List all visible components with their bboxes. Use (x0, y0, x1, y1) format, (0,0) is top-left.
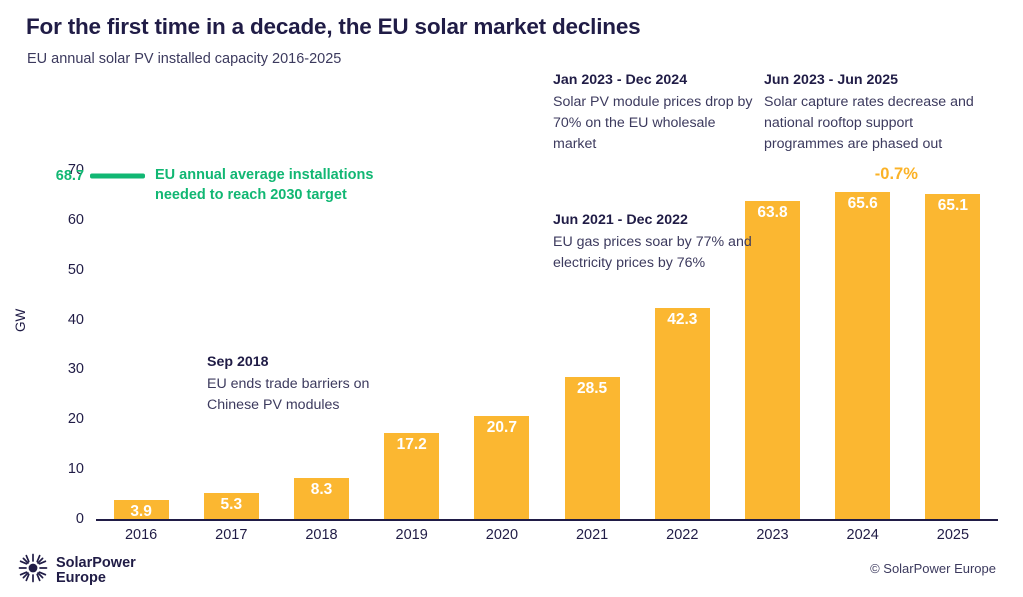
logo-wordmark: SolarPower Europe (56, 556, 136, 586)
bar-2016[interactable]: 3.9 (114, 500, 169, 519)
bar-value-label: 20.7 (474, 419, 529, 437)
x-axis-tick-2022: 2022 (632, 527, 732, 543)
x-axis-tick-2020: 2020 (452, 527, 552, 543)
y-axis-tick-label: 20 (32, 411, 84, 427)
bar-value-label: 65.6 (835, 195, 890, 213)
target-line-legend-swatch (90, 174, 145, 179)
bar-value-label: 5.3 (204, 496, 259, 514)
target-line-value: 68.7 (22, 168, 84, 184)
y-axis-ticks: 010203040506070 (22, 0, 84, 597)
y-axis-tick-label: 10 (32, 461, 84, 477)
bar-2025[interactable]: 65.1 (925, 194, 980, 519)
bar-2023[interactable]: 63.8 (745, 201, 800, 519)
x-axis-tick-2019: 2019 (362, 527, 462, 543)
annotation-body: Solar capture rates decrease and nationa… (764, 92, 989, 155)
x-axis-tick-2021: 2021 (542, 527, 642, 543)
sunburst-icon (18, 553, 48, 588)
bar-value-label: 8.3 (294, 481, 349, 499)
x-axis-tick-2024: 2024 (813, 527, 913, 543)
annotation-jun2021: Jun 2021 - Dec 2022 EU gas prices soar b… (553, 210, 753, 274)
bar-rect (565, 377, 620, 519)
x-axis-tick-2023: 2023 (723, 527, 823, 543)
x-axis-tick-2017: 2017 (181, 527, 281, 543)
bar-2017[interactable]: 5.3 (204, 493, 259, 519)
annotation-jan2023: Jan 2023 - Dec 2024 Solar PV module pric… (553, 70, 753, 155)
bar-2020[interactable]: 20.7 (474, 416, 529, 519)
annotation-body: Solar PV module prices drop by 70% on th… (553, 92, 753, 155)
annotation-heading: Sep 2018 (207, 352, 422, 373)
bar-value-label: 63.8 (745, 204, 800, 222)
x-axis-tick-2018: 2018 (272, 527, 372, 543)
y-axis-label: GW (13, 309, 28, 332)
y-axis-tick-label: 40 (32, 312, 84, 328)
bar-value-label: 28.5 (565, 380, 620, 398)
bar-value-label: 17.2 (384, 436, 439, 454)
bar-2021[interactable]: 28.5 (565, 377, 620, 519)
bar-rect (925, 194, 980, 519)
annotation-heading: Jun 2023 - Jun 2025 (764, 70, 989, 91)
y-axis-tick-label: 60 (32, 212, 84, 228)
change-annotation-label: -0.7% (875, 165, 918, 184)
bar-rect (745, 201, 800, 519)
annotation-sep2018: Sep 2018 EU ends trade barriers on Chine… (207, 352, 422, 416)
bar-2019[interactable]: 17.2 (384, 433, 439, 519)
bar-2022[interactable]: 42.3 (655, 308, 710, 519)
x-axis-line (96, 519, 998, 521)
target-line-legend-label: EU annual average installations needed t… (155, 165, 435, 205)
y-axis-tick-label: 30 (32, 361, 84, 377)
annotation-body: EU gas prices soar by 77% and electricit… (553, 232, 753, 274)
bar-value-label: 3.9 (114, 503, 169, 521)
y-axis-tick-label: 0 (32, 511, 84, 527)
bar-rect (655, 308, 710, 519)
annotation-heading: Jan 2023 - Dec 2024 (553, 70, 753, 91)
bar-value-label: 65.1 (925, 197, 980, 215)
solarpower-europe-logo: SolarPower Europe (18, 553, 136, 588)
bar-rect (835, 192, 890, 519)
annotation-body: EU ends trade barriers on Chinese PV mod… (207, 374, 422, 416)
x-axis-tick-2016: 2016 (91, 527, 191, 543)
x-axis-tick-2025: 2025 (903, 527, 1003, 543)
annotation-heading: Jun 2021 - Dec 2022 (553, 210, 753, 231)
copyright-notice: © SolarPower Europe (870, 561, 996, 576)
bar-2024[interactable]: 65.6 (835, 192, 890, 519)
bar-value-label: 42.3 (655, 311, 710, 329)
annotation-jun2023: Jun 2023 - Jun 2025 Solar capture rates … (764, 70, 989, 155)
bar-2018[interactable]: 8.3 (294, 478, 349, 519)
y-axis-tick-label: 50 (32, 262, 84, 278)
